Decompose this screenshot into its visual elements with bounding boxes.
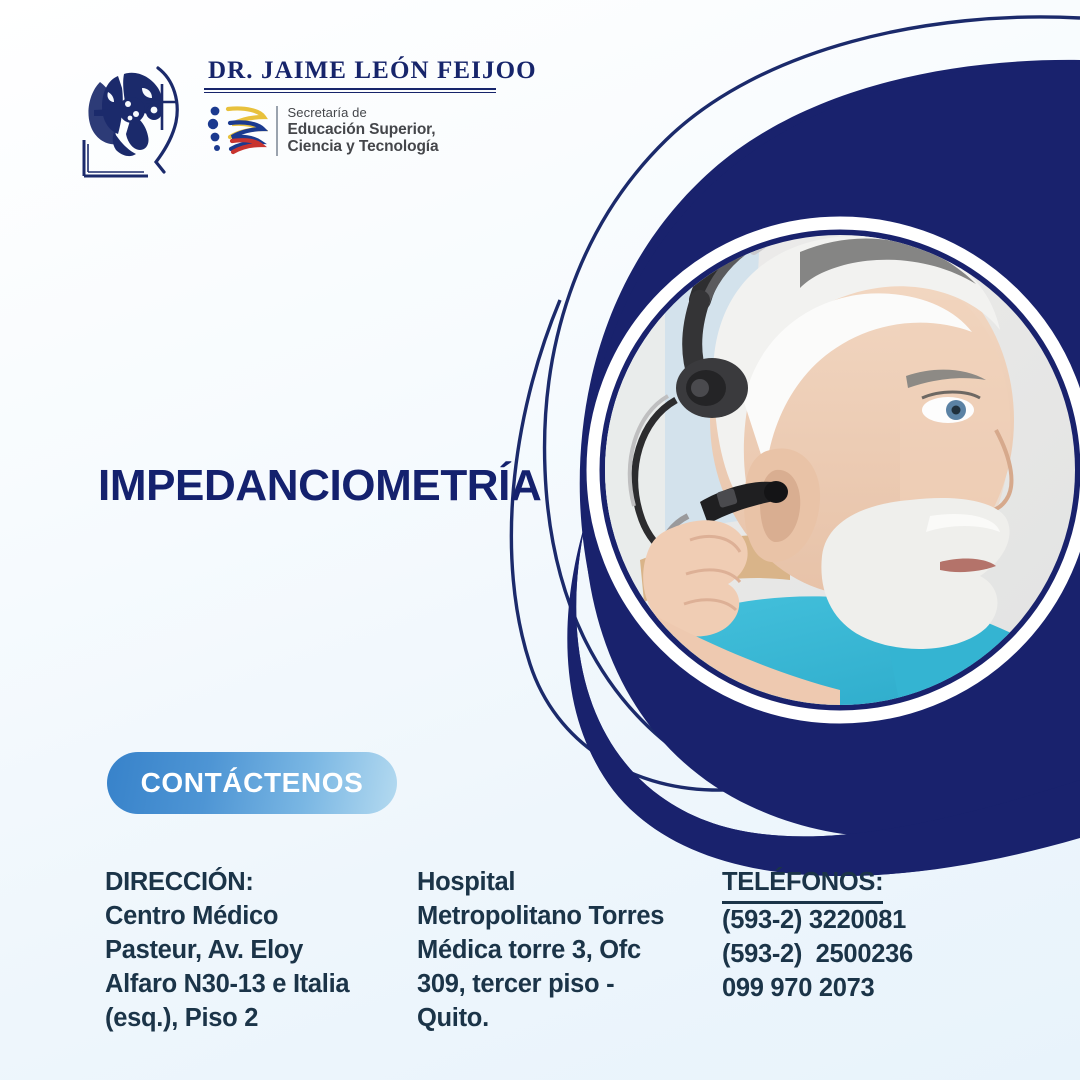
address-line: Alfaro N30-13 e Italia	[105, 968, 417, 1002]
ear-anatomy-icon	[74, 58, 194, 186]
contact-column-address: DIRECCIÓN: Centro Médico Pasteur, Av. El…	[105, 866, 417, 1036]
hospital-heading: Hospital	[417, 866, 515, 900]
address-line: Centro Médico	[105, 900, 417, 934]
address-line: Pasteur, Av. Eloy	[105, 934, 417, 968]
phone-number[interactable]: (593-2) 2500236	[722, 938, 1022, 972]
contact-columns: DIRECCIÓN: Centro Médico Pasteur, Av. El…	[105, 866, 1035, 1036]
header-rule-1	[204, 88, 496, 90]
page-title: IMPEDANCIOMETRÍA	[98, 461, 541, 511]
contact-us-label: CONTÁCTENOS	[141, 767, 364, 799]
secretaria-line-3: Ciencia y Tecnología	[288, 138, 439, 155]
contact-us-button[interactable]: CONTÁCTENOS	[107, 752, 397, 814]
hospital-line: Médica torre 3, Ofc	[417, 934, 722, 968]
brand-header: DR. JAIME LEÓN FEIJOO Sec	[74, 58, 537, 186]
secretaria-line-2: Educación Superior,	[288, 121, 439, 138]
ecuador-ribbon-icon	[206, 103, 268, 159]
contact-column-phones: TELÉFONOS: (593-2) 3220081 (593-2) 25002…	[722, 866, 1022, 1036]
secretaria-divider	[276, 106, 278, 156]
phones-heading: TELÉFONOS:	[722, 866, 883, 904]
address-heading: DIRECCIÓN:	[105, 866, 254, 900]
contact-column-hospital: Hospital Metropolitano Torres Médica tor…	[417, 866, 722, 1036]
header-rule-2	[204, 92, 496, 93]
hospital-line: Metropolitano Torres	[417, 900, 722, 934]
hospital-line: Quito.	[417, 1002, 722, 1036]
secretaria-line-1: Secretaría de	[288, 106, 439, 121]
phone-number[interactable]: 099 970 2073	[722, 972, 1022, 1006]
address-line: (esq.), Piso 2	[105, 1002, 417, 1036]
secretaria-logo: Secretaría de Educación Superior, Cienci…	[206, 103, 537, 159]
phone-number[interactable]: (593-2) 3220081	[722, 904, 1022, 938]
hospital-line: 309, tercer piso -	[417, 968, 722, 1002]
poster-canvas: DR. JAIME LEÓN FEIJOO Sec	[0, 0, 1080, 1080]
doctor-name: DR. JAIME LEÓN FEIJOO	[198, 58, 537, 83]
